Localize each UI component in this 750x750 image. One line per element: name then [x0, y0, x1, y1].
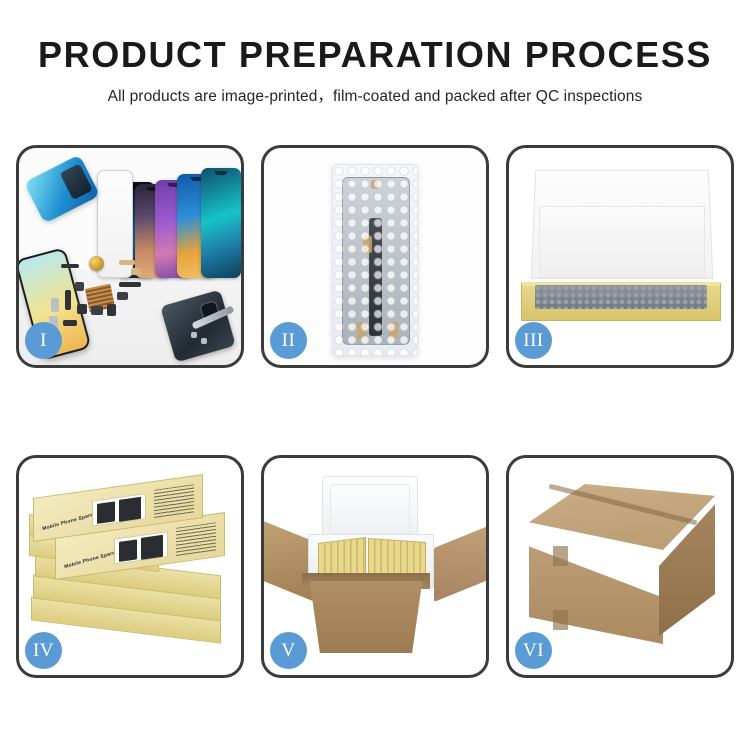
process-step-6: VI — [506, 455, 734, 678]
screen-image — [97, 501, 115, 524]
bubble-texture — [333, 165, 417, 355]
padded-parts-row — [535, 285, 707, 309]
spare-part — [191, 332, 197, 338]
vibration-motor-part — [89, 256, 104, 271]
process-step-5: V — [261, 455, 489, 678]
process-steps-grid: I II — [16, 145, 734, 680]
foam-lid — [322, 476, 418, 542]
product-preparation-infographic: PRODUCT PREPARATION PROCESS All products… — [0, 0, 750, 750]
process-step-4: Mobile Phone Spare Parts Mobile Phone Sp… — [16, 455, 244, 678]
spare-part — [91, 306, 103, 315]
sealed-carton — [529, 484, 715, 644]
process-step-2: II — [261, 145, 489, 368]
header: PRODUCT PREPARATION PROCESS All products… — [0, 36, 750, 106]
process-step-3: III — [506, 145, 734, 368]
box-spec-lines — [176, 522, 216, 556]
step-badge-1: I — [25, 322, 62, 359]
box-window — [114, 531, 168, 565]
screen-image — [119, 497, 141, 522]
foam-sheet — [539, 206, 705, 278]
box-stack: Mobile Phone Spare Parts Mobile Phone Sp… — [27, 476, 233, 658]
carton-tape — [553, 610, 568, 630]
step-badge-6: VI — [515, 632, 552, 669]
screen-image — [119, 539, 137, 562]
spare-part — [75, 282, 84, 291]
spare-part — [201, 338, 207, 344]
notch — [215, 171, 228, 175]
box-window — [92, 493, 146, 527]
spare-part — [107, 304, 116, 316]
spare-part — [117, 292, 128, 300]
spare-part — [131, 268, 141, 275]
carton-front — [302, 581, 430, 653]
spare-part — [119, 282, 141, 287]
spare-part — [77, 304, 87, 314]
box-spec-lines — [154, 484, 194, 518]
spare-part — [61, 264, 79, 268]
spare-part — [63, 320, 77, 326]
step-badge-4: IV — [25, 632, 62, 669]
step-badge-5: V — [270, 632, 307, 669]
carton-tape — [553, 546, 568, 566]
page-subtitle: All products are image-printed，film-coat… — [0, 84, 750, 106]
process-step-1: I — [16, 145, 244, 368]
blue-protective-film — [24, 154, 100, 223]
step-badge-2: II — [270, 322, 307, 359]
carton-flap-right — [434, 526, 486, 602]
spare-part — [119, 260, 135, 265]
step-badge-3: III — [515, 322, 552, 359]
phone-screen-1 — [201, 168, 241, 278]
bubble-wrap-bag — [332, 164, 418, 356]
page-title: PRODUCT PREPARATION PROCESS — [0, 36, 750, 74]
spare-part — [51, 298, 59, 312]
spare-part — [65, 290, 71, 310]
screen-image — [141, 535, 163, 560]
